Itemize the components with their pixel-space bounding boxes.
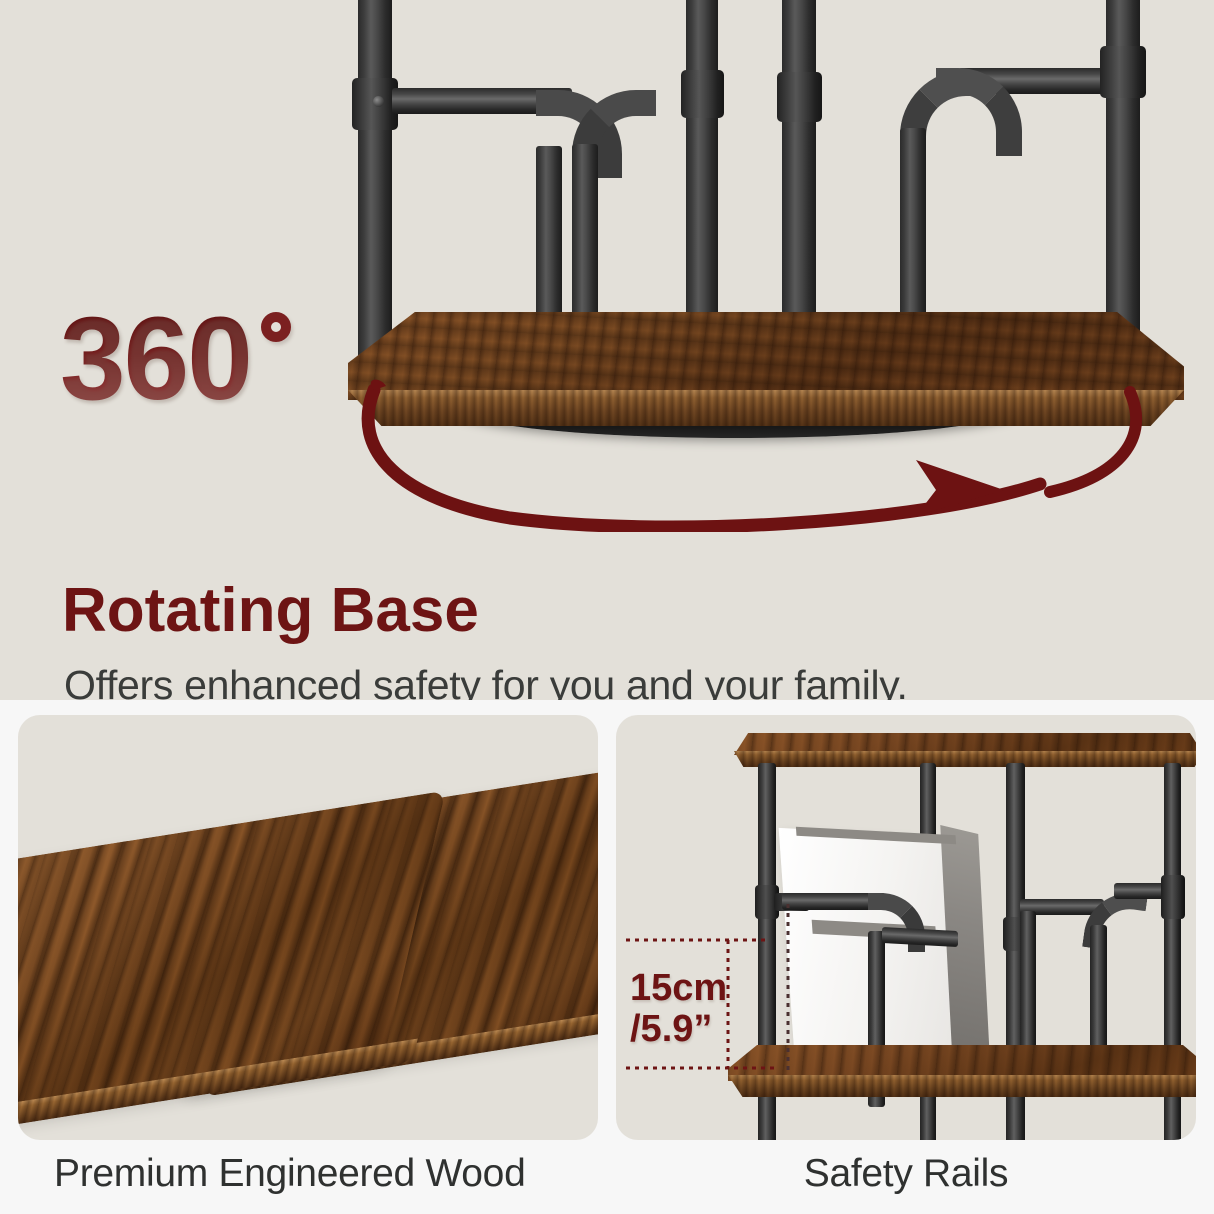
degree-badge: 360 — [60, 300, 291, 418]
dimension-label: 15cm /5.9” — [630, 968, 727, 1050]
screw-icon — [373, 96, 384, 107]
shelf-board-edge — [348, 390, 1184, 426]
rail-right-joint — [1161, 875, 1185, 907]
dimension-imperial: /5.9” — [630, 1009, 727, 1050]
caption-premium-engineered-wood: Premium Engineered Wood — [18, 1152, 598, 1196]
hero-title: Rotating Base — [62, 580, 479, 642]
card-premium-engineered-wood[interactable] — [18, 715, 598, 1140]
card-safety-rails[interactable] — [616, 715, 1196, 1140]
hero-subtitle: Offers enhanced safety for you and your … — [64, 661, 908, 700]
shelf-board-surface — [348, 312, 1184, 400]
pipe-collar-right-inner — [777, 72, 822, 122]
stacked-wood-boards-photo — [18, 715, 598, 1140]
rail-top-shelf-edge — [734, 751, 1196, 767]
shelf-with-safety-rail-photo — [616, 715, 1196, 1140]
caption-safety-rails: Safety Rails — [616, 1152, 1196, 1196]
feature-cards-section: Premium Engineered Wood — [0, 700, 1214, 1214]
rail-bottom-shelf-edge — [728, 1075, 1196, 1097]
pipe-collar-center — [681, 70, 724, 118]
degree-ring-icon — [261, 312, 291, 342]
pipe-collar-right-outer — [1100, 46, 1146, 98]
pipe-vertical-left — [358, 0, 392, 390]
hero-section: 360 Rotating Base Offers enhanced safety… — [0, 0, 1214, 700]
dimension-metric: 15cm — [630, 968, 727, 1009]
degree-number: 360 — [60, 300, 251, 418]
